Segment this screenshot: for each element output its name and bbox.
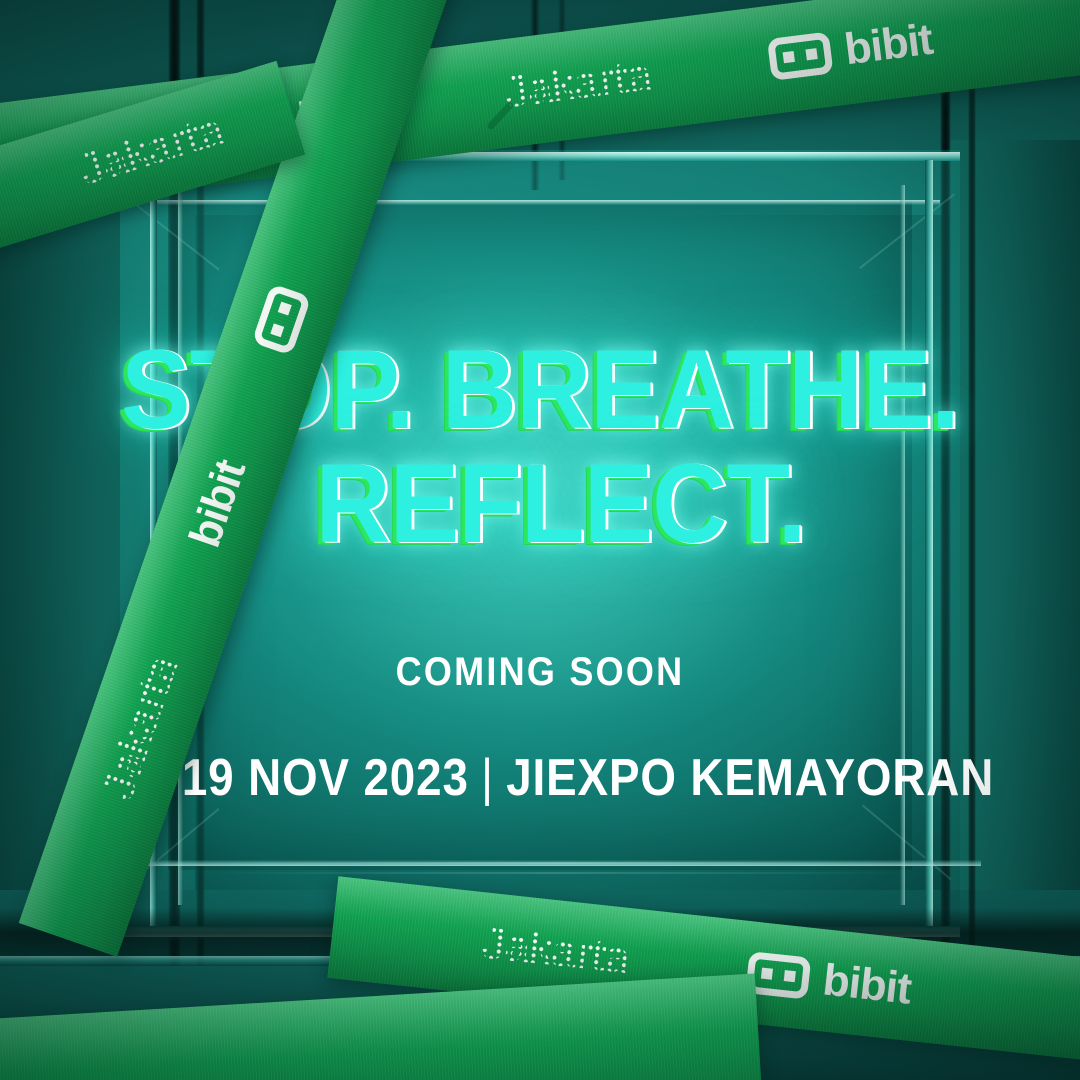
poster-canvas: STOP. BREATHE. REFLECT. COMING SOON 17 -…: [0, 0, 1080, 1080]
tape-left-brand: bibit: [180, 454, 256, 553]
tape-top-brand-2: bibit: [842, 15, 935, 76]
tape-top-city: Jakarta: [501, 50, 653, 118]
event-details: 17 - 19 NOV 2023|JIEXPO KEMAYORAN: [65, 748, 1015, 808]
event-venue: JIEXPO KEMAYORAN: [506, 749, 994, 807]
tape-left-city: Jakarta: [93, 651, 188, 806]
tape-bottom-brand: bibit: [820, 955, 913, 1014]
bibit-wallet-icon: [767, 31, 834, 80]
detail-separator: |: [469, 748, 506, 808]
tape-bottom-city: Jakarta: [479, 918, 631, 984]
tape-corner-city: Jakarta: [73, 105, 228, 196]
bibit-wallet-icon: [252, 283, 312, 355]
